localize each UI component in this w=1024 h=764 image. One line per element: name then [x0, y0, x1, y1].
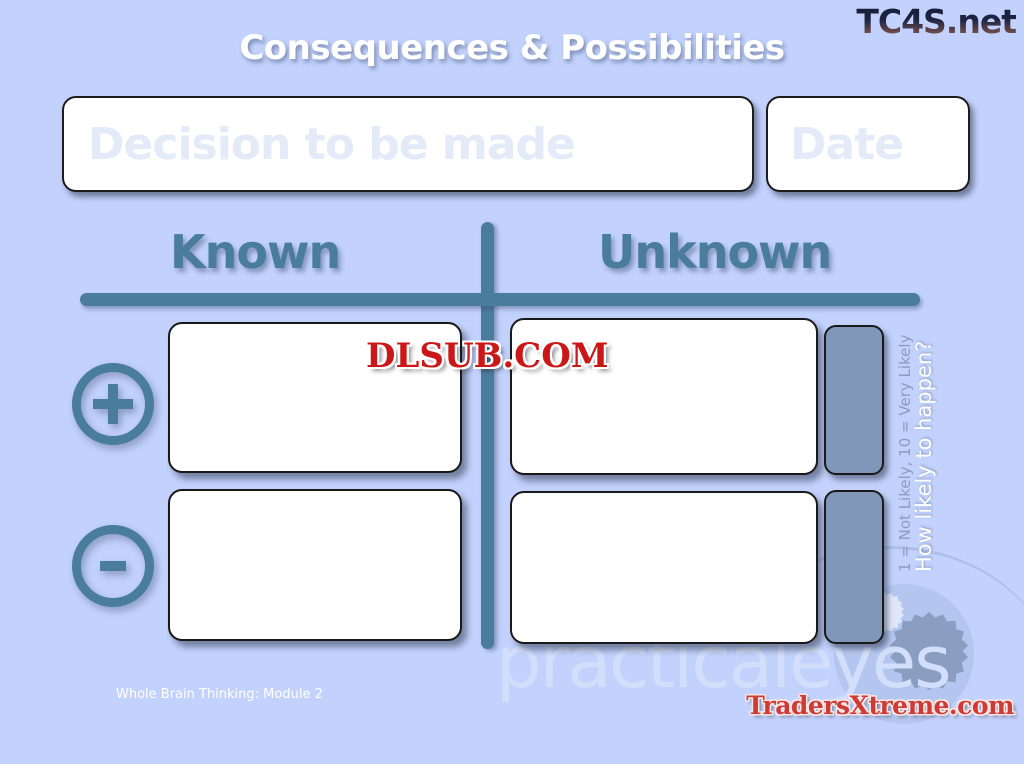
date-placeholder: Date: [768, 119, 903, 170]
dlsub-watermark: DLSUB.COM: [366, 336, 608, 376]
scale-legend: 1 = Not Likely, 10 = Very Likely: [896, 335, 914, 572]
date-input[interactable]: Date: [766, 96, 970, 192]
decision-placeholder: Decision to be made: [64, 119, 575, 170]
tc4s-watermark: TC4S.net: [856, 2, 1016, 41]
scale-question: How likely to happen?: [912, 341, 936, 572]
plus-vertical-bar: [108, 384, 118, 424]
minus-circle-icon: [72, 525, 154, 607]
minus-horizontal-bar: [100, 561, 126, 571]
column-header-unknown: Unknown: [598, 225, 831, 279]
tradersxtreme-watermark: TradersXtreme.com: [746, 691, 1014, 720]
cell-known-negative[interactable]: [168, 489, 462, 641]
footer-note: Whole Brain Thinking: Module 2: [116, 687, 323, 702]
rating-input-negative[interactable]: [824, 490, 884, 644]
gear-icon-large: [890, 612, 968, 690]
column-header-known: Known: [170, 225, 340, 279]
decision-input[interactable]: Decision to be made: [62, 96, 754, 192]
likelihood-scale-label: How likely to happen? 1 = Not Likely, 10…: [906, 312, 956, 572]
cell-unknown-negative[interactable]: [510, 491, 818, 644]
horizontal-divider: [80, 293, 920, 306]
rating-input-positive[interactable]: [824, 325, 884, 475]
plus-circle-icon: [72, 363, 154, 445]
vertical-divider: [481, 222, 494, 649]
